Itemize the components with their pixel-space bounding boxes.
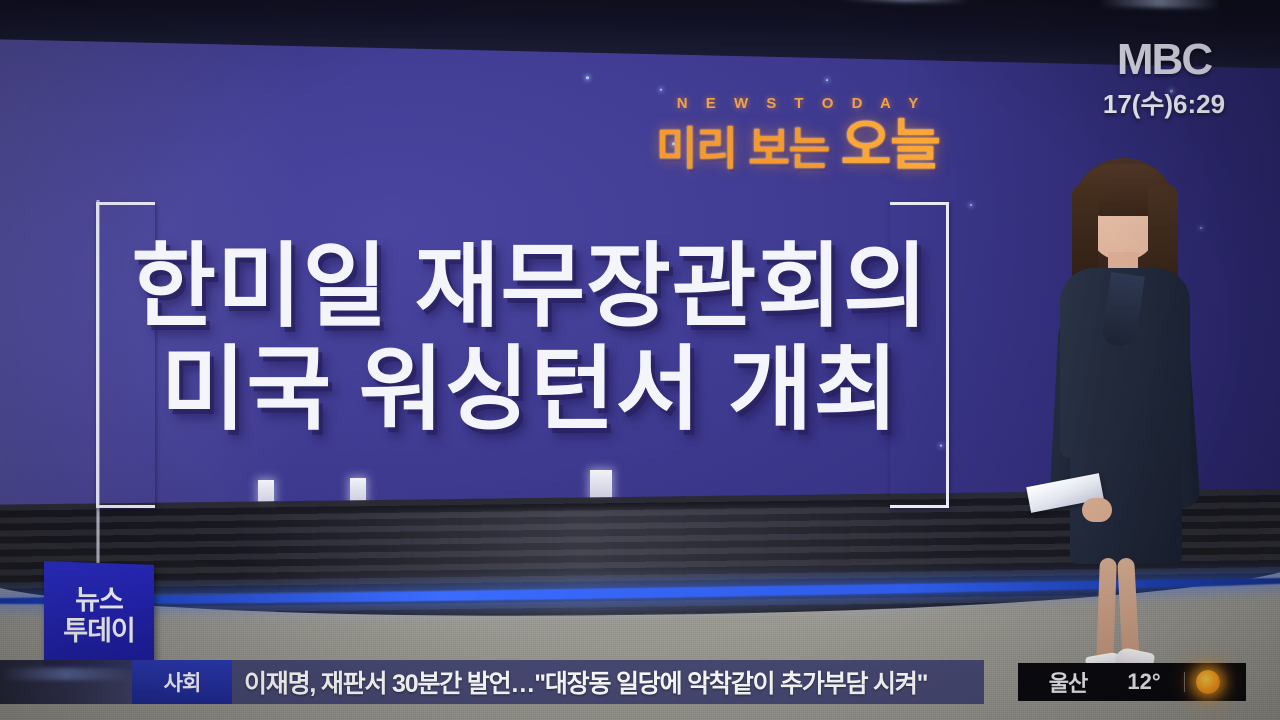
studio-wall-skirt-sheen <box>240 503 1000 620</box>
wall-light-panel <box>590 470 612 500</box>
program-title: 미리 보는 오늘 <box>628 118 968 173</box>
badge-line-2: 투데이 <box>63 617 135 646</box>
broadcaster-bug: MBC 17(수)6:29 <box>1084 38 1244 121</box>
program-eyebrow: N E W S T O D A Y <box>628 96 968 111</box>
ticker-category-badge: 사회 <box>132 660 232 704</box>
weather-divider <box>1184 672 1185 692</box>
ticker-left-fill <box>0 660 132 704</box>
news-anchor <box>1020 158 1230 670</box>
ticker-left-streak <box>0 668 132 680</box>
headline-line-1: 한미일 재무장관회의 <box>110 236 950 339</box>
weather-city: 울산 <box>1026 666 1110 698</box>
badge-line-1: 뉴스 <box>75 586 123 615</box>
program-title-prefix: 미리 보는 <box>656 123 841 174</box>
program-title-block: N E W S T O D A Y 미리 보는 오늘 <box>628 96 968 173</box>
anchor-leg-left <box>1096 558 1117 667</box>
headline-line-2: 미국 워싱턴서 개최 <box>110 339 950 442</box>
weather-temperature: 12° <box>1110 669 1178 695</box>
broadcast-screenshot: N E W S T O D A Y 미리 보는 오늘 한미일 재무장관회의 미국… <box>0 0 1280 720</box>
sun-icon <box>1191 667 1225 697</box>
weather-widget: 울산 12° <box>1018 663 1246 701</box>
ticker-headline-text: 이재명, 재판서 30분간 발언…"대장동 일당에 악착같이 추가부담 시켜" <box>232 664 927 700</box>
on-air-clock: 17(수)6:29 <box>1084 84 1244 121</box>
anchor-hands <box>1082 498 1112 522</box>
ticker-text-area: 이재명, 재판서 30분간 발언…"대장동 일당에 악착같이 추가부담 시켜" <box>232 660 984 704</box>
headline-block: 한미일 재무장관회의 미국 워싱턴서 개최 <box>110 236 950 442</box>
ticker-category-label: 사회 <box>164 667 201 697</box>
program-title-strong: 오늘 <box>841 114 940 176</box>
program-logo-badge: 뉴스 투데이 <box>44 561 154 670</box>
mbc-logo: MBC <box>1084 38 1244 82</box>
